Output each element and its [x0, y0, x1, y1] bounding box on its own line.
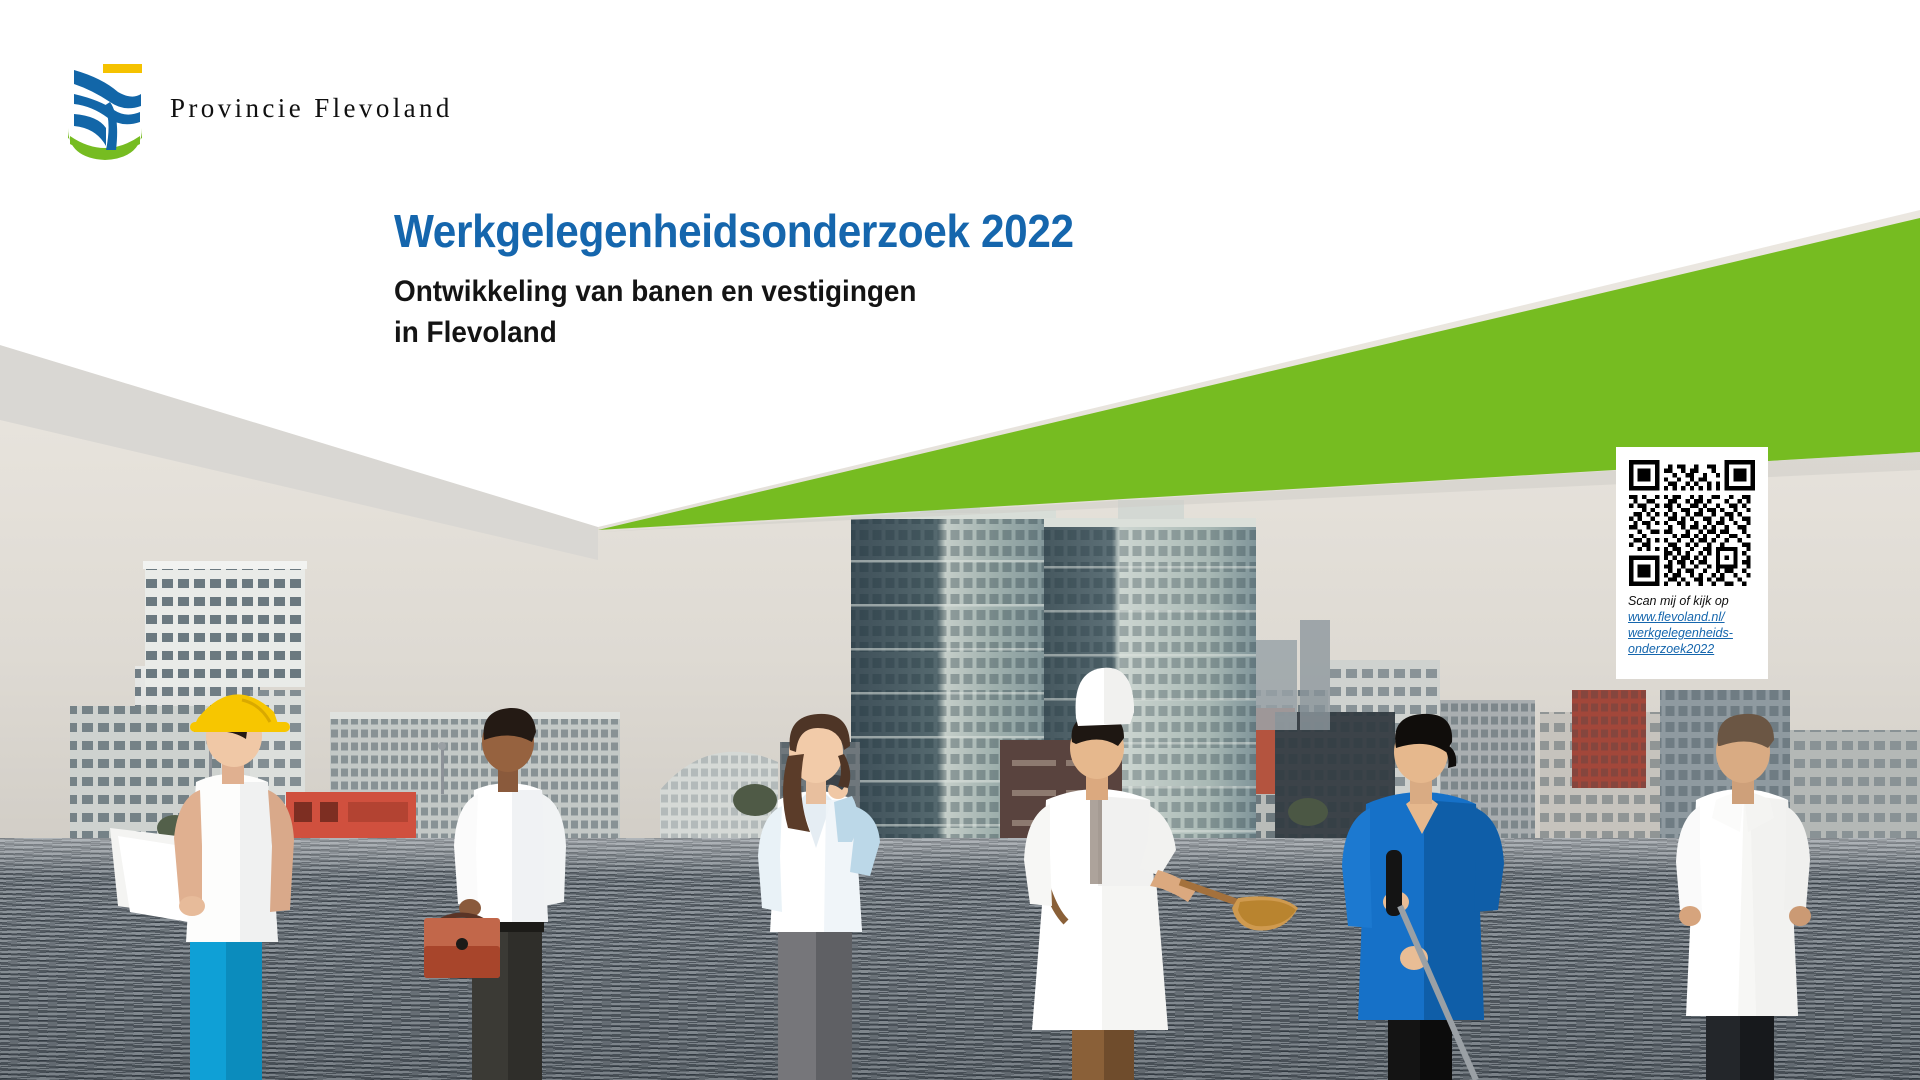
qr-code-icon[interactable]: [1629, 460, 1755, 586]
qr-link-line-3[interactable]: onderzoek2022: [1628, 641, 1760, 657]
brand-logo[interactable]: Provincie Flevoland: [62, 54, 453, 162]
page-subtitle-line-2: in Flevoland: [394, 313, 1231, 354]
title-block: Werkgelegenheidsonderzoek 2022 Ontwikkel…: [394, 208, 1294, 353]
qr-caption-text: Scan mij of kijk op: [1628, 594, 1729, 608]
qr-caption-block: Scan mij of kijk op www.flevoland.nl/ we…: [1628, 593, 1760, 657]
slide-root: Provincie Flevoland Werkgelegenheidsonde…: [0, 0, 1920, 1080]
flevoland-coat-of-arms-icon: [62, 54, 148, 162]
brand-name: Provincie Flevoland: [170, 93, 453, 124]
page-title: Werkgelegenheidsonderzoek 2022: [394, 208, 1222, 256]
qr-link-line-2[interactable]: werkgelegenheids-: [1628, 625, 1760, 641]
qr-link-line-1[interactable]: www.flevoland.nl/: [1628, 609, 1760, 625]
page-subtitle-line-1: Ontwikkeling van banen en vestigingen: [394, 272, 1231, 313]
water-highlight: [0, 838, 1920, 878]
qr-card[interactable]: Scan mij of kijk op www.flevoland.nl/ we…: [1616, 447, 1768, 679]
